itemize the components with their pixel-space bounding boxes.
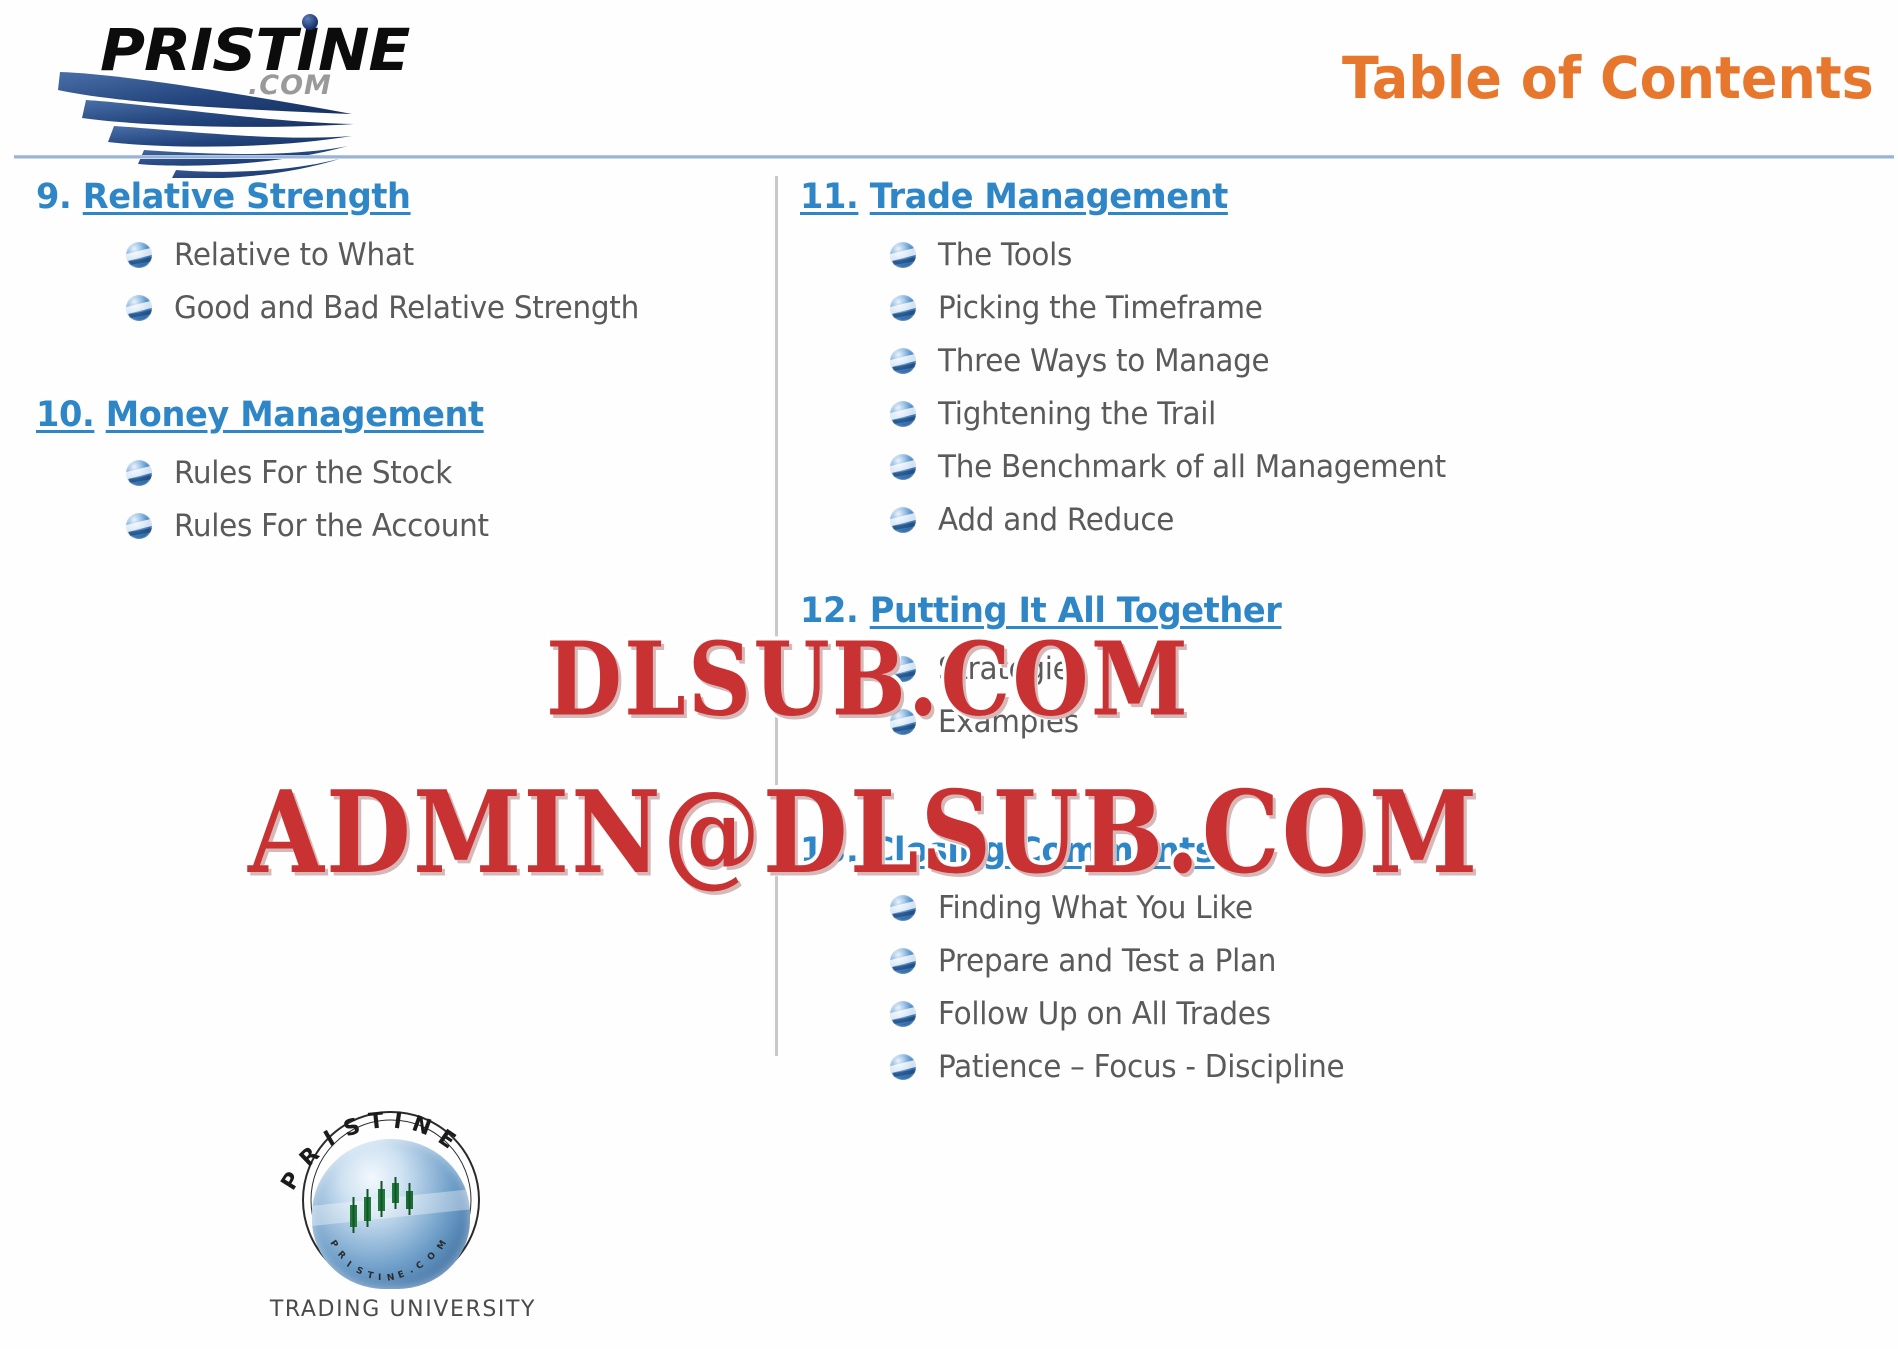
toc-sublist: Rules For the Stock Rules For the Accoun…	[36, 448, 756, 551]
toc-section-heading[interactable]: 13. Closing Comments	[800, 830, 1827, 874]
seal-inner-letter: T	[366, 1271, 374, 1282]
section-number: 12.	[800, 591, 858, 631]
globe-bullet-icon	[126, 242, 152, 268]
list-item[interactable]: Follow Up on All Trades	[800, 989, 1870, 1039]
sub-item-label: Three Ways to Manage	[938, 343, 1269, 379]
list-item[interactable]: Patience – Focus - Discipline	[800, 1042, 1870, 1092]
column-divider	[775, 176, 778, 1056]
seal-arch-letter: I	[320, 1126, 340, 1152]
toc-section-13: 13. Closing Comments Finding What You Li…	[800, 830, 1870, 1093]
globe-bullet-icon	[890, 1001, 916, 1027]
section-title[interactable]: Putting It All Together	[870, 591, 1282, 631]
list-item[interactable]: The Tools	[800, 230, 1870, 280]
seal-arch-letter: E	[433, 1125, 459, 1154]
section-title[interactable]: Money Management	[106, 395, 484, 435]
toc-sublist: Relative to What Good and Bad Relative S…	[36, 230, 756, 333]
section-title[interactable]: Trade Management	[870, 177, 1228, 217]
toc-left-column: 9. Relative Strength Relative to What Go…	[36, 176, 756, 554]
seal-inner-letter: C	[415, 1260, 426, 1272]
toc-right-column: 11. Trade Management The Tools Picking t…	[800, 176, 1870, 1095]
sub-item-label: Relative to What	[174, 237, 414, 273]
seal-inner-letter: N	[386, 1272, 395, 1283]
sub-item-label: Prepare and Test a Plan	[938, 943, 1276, 979]
seal-caption: TRADING UNIVERSITY	[268, 1297, 538, 1322]
seal-arch-letter: R	[295, 1142, 325, 1172]
seal-inner-letter: I	[344, 1260, 352, 1270]
globe-bullet-icon	[890, 948, 916, 974]
seal-inner-letter: S	[354, 1266, 364, 1278]
seal-arch-letter: T	[367, 1108, 385, 1134]
section-number: 11.	[800, 177, 858, 217]
sub-item-label: Finding What You Like	[938, 890, 1253, 926]
list-item[interactable]: Strategies	[800, 644, 1870, 694]
toc-sublist: Strategies Examples	[800, 644, 1870, 747]
slide-header: PRISTINE .COM Table of Contents	[0, 0, 1898, 190]
sub-item-label: Patience – Focus - Discipline	[938, 1049, 1344, 1085]
seal-inner-letter: P	[327, 1239, 339, 1250]
spacer	[36, 336, 756, 394]
seal-inner-letter: R	[335, 1250, 347, 1262]
toc-section-heading[interactable]: 11. Trade Management	[800, 176, 1827, 220]
list-item[interactable]: Rules For the Account	[36, 501, 756, 551]
sub-item-label: Follow Up on All Trades	[938, 996, 1271, 1032]
section-number: 13.	[800, 831, 858, 871]
list-item[interactable]: Picking the Timeframe	[800, 283, 1870, 333]
seal-arch-letter: N	[409, 1111, 435, 1141]
seal-inner-letter: .	[407, 1265, 415, 1275]
sub-item-label: Add and Reduce	[938, 502, 1174, 538]
pristine-university-seal: P R I S T I N E P R I S T I N E . C O M …	[268, 1095, 538, 1345]
globe-bullet-icon	[890, 1054, 916, 1080]
sub-item-label: Examples	[938, 704, 1079, 740]
sub-item-label: The Benchmark of all Management	[938, 449, 1446, 485]
section-title[interactable]: Relative Strength	[83, 177, 411, 217]
logo-dotcom: .COM	[248, 70, 332, 101]
toc-section-11: 11. Trade Management The Tools Picking t…	[800, 176, 1870, 545]
globe-bullet-icon	[890, 656, 916, 682]
list-item[interactable]: Tightening the Trail	[800, 389, 1870, 439]
globe-bullet-icon	[890, 507, 916, 533]
sub-item-label: Rules For the Account	[174, 508, 489, 544]
list-item[interactable]: The Benchmark of all Management	[800, 442, 1870, 492]
seal-inner-letter: M	[436, 1239, 449, 1252]
sub-item-label: Strategies	[938, 651, 1086, 687]
toc-section-9: 9. Relative Strength Relative to What Go…	[36, 176, 756, 333]
section-number: 10.	[36, 395, 94, 435]
spacer	[800, 750, 1870, 830]
seal-inner-arc-text: P R I S T I N E . C O M	[320, 1217, 470, 1287]
toc-section-12: 12. Putting It All Together Strategies E…	[800, 590, 1870, 747]
seal-inner-letter: O	[426, 1250, 439, 1262]
sub-item-label: The Tools	[938, 237, 1072, 273]
sub-item-label: Rules For the Stock	[174, 455, 452, 491]
pristine-wing-logo: PRISTINE .COM	[52, 8, 472, 186]
seal-inner-letter: I	[378, 1273, 381, 1283]
globe-bullet-icon	[890, 709, 916, 735]
toc-section-heading[interactable]: 10. Money Management	[36, 394, 727, 438]
seal-arch-text: P R I S T I N E	[286, 1101, 498, 1201]
globe-bullet-icon	[126, 460, 152, 486]
list-item[interactable]: Relative to What	[36, 230, 756, 280]
list-item[interactable]: Add and Reduce	[800, 495, 1870, 545]
section-number: 9.	[36, 177, 71, 217]
sub-item-label: Picking the Timeframe	[938, 290, 1263, 326]
seal-inner-letter: E	[397, 1270, 406, 1282]
globe-bullet-icon	[890, 242, 916, 268]
toc-section-10: 10. Money Management Rules For the Stock…	[36, 394, 756, 551]
seal-arch-letter: I	[392, 1109, 404, 1135]
header-divider	[14, 155, 1894, 159]
toc-sublist: Finding What You Like Prepare and Test a…	[800, 883, 1870, 1092]
sub-item-label: Tightening the Trail	[938, 396, 1216, 432]
toc-sublist: The Tools Picking the Timeframe Three Wa…	[800, 230, 1870, 545]
globe-bullet-icon	[890, 348, 916, 374]
toc-section-heading[interactable]: 12. Putting It All Together	[800, 590, 1827, 634]
globe-bullet-icon	[890, 895, 916, 921]
seal-arch-letter: P	[277, 1168, 307, 1195]
globe-bullet-icon	[890, 401, 916, 427]
seal-arch-letter: S	[341, 1114, 364, 1143]
slide-canvas: PRISTINE .COM Table of Contents 9. Relat…	[0, 0, 1898, 1349]
list-item[interactable]: Examples	[800, 697, 1870, 747]
globe-bullet-icon	[126, 513, 152, 539]
list-item[interactable]: Finding What You Like	[800, 883, 1870, 933]
page-title: Table of Contents	[1342, 44, 1874, 112]
globe-bullet-icon	[890, 454, 916, 480]
list-item[interactable]: Prepare and Test a Plan	[800, 936, 1870, 986]
sub-item-label: Good and Bad Relative Strength	[174, 290, 639, 326]
logo-dot	[302, 14, 318, 30]
list-item[interactable]: Three Ways to Manage	[800, 336, 1870, 386]
list-item[interactable]: Rules For the Stock	[36, 448, 756, 498]
globe-bullet-icon	[126, 295, 152, 321]
section-title[interactable]: Closing Comments	[870, 831, 1215, 871]
spacer	[800, 548, 1870, 590]
globe-bullet-icon	[890, 295, 916, 321]
toc-section-heading[interactable]: 9. Relative Strength	[36, 176, 727, 220]
list-item[interactable]: Good and Bad Relative Strength	[36, 283, 756, 333]
